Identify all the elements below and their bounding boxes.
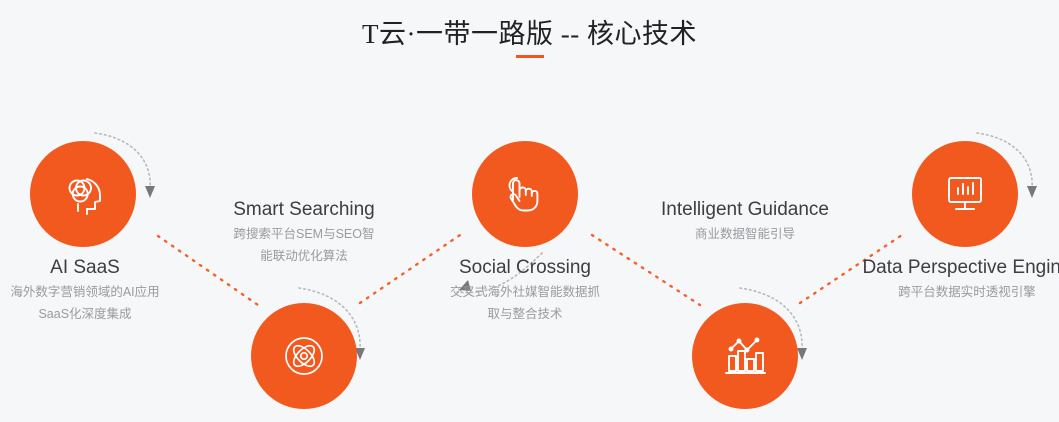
node-circle[interactable] [30, 141, 136, 247]
node-circle[interactable] [912, 141, 1018, 247]
node-title: AI SaaS [0, 256, 200, 280]
node-title: Social Crossing [410, 256, 640, 280]
node-labels: Smart Searching 跨搜索平台SEM与SEO智 能联动优化算法 [189, 198, 419, 266]
infographic-stage: T云·一带一路版 -- 核心技术 [0, 0, 1059, 422]
node-circle[interactable] [472, 141, 578, 247]
click-hand-icon [500, 169, 550, 219]
node-desc-line2: SaaS化深度集成 [0, 305, 200, 324]
node-title: Smart Searching [189, 198, 419, 222]
node-desc-line1: 商业数据智能引导 [630, 225, 860, 244]
monitor-chart-icon [939, 168, 991, 220]
node-desc-line1: 跨搜索平台SEM与SEO智 [189, 225, 419, 244]
node-labels: Intelligent Guidance 商业数据智能引导 [630, 198, 860, 247]
node-labels: AI SaaS 海外数字营销领域的AI应用 SaaS化深度集成 [0, 256, 200, 324]
node-desc-line1: 海外数字营销领域的AI应用 [0, 283, 200, 302]
node-desc-line1: 跨平台数据实时透视引擎 [852, 283, 1059, 302]
node-labels: Social Crossing 交叉式海外社媒智能数据抓 取与整合技术 [410, 256, 640, 324]
node-circle[interactable] [692, 303, 798, 409]
atom-orbit-icon [278, 330, 330, 382]
title-underline-accent [516, 55, 544, 58]
node-desc-line1: 交叉式海外社媒智能数据抓 [410, 283, 640, 302]
node-title: Data Perspective Engine [852, 256, 1059, 280]
node-title: Intelligent Guidance [630, 198, 860, 222]
node-desc-line2: 能联动优化算法 [189, 247, 419, 266]
ai-head-icon [57, 168, 109, 220]
node-desc-line2: 取与整合技术 [410, 305, 640, 324]
node-circle[interactable] [251, 303, 357, 409]
node-labels: Data Perspective Engine 跨平台数据实时透视引擎 [852, 256, 1059, 305]
page-title: T云·一带一路版 -- 核心技术 [0, 12, 1059, 51]
bar-chart-trend-icon [719, 330, 771, 382]
